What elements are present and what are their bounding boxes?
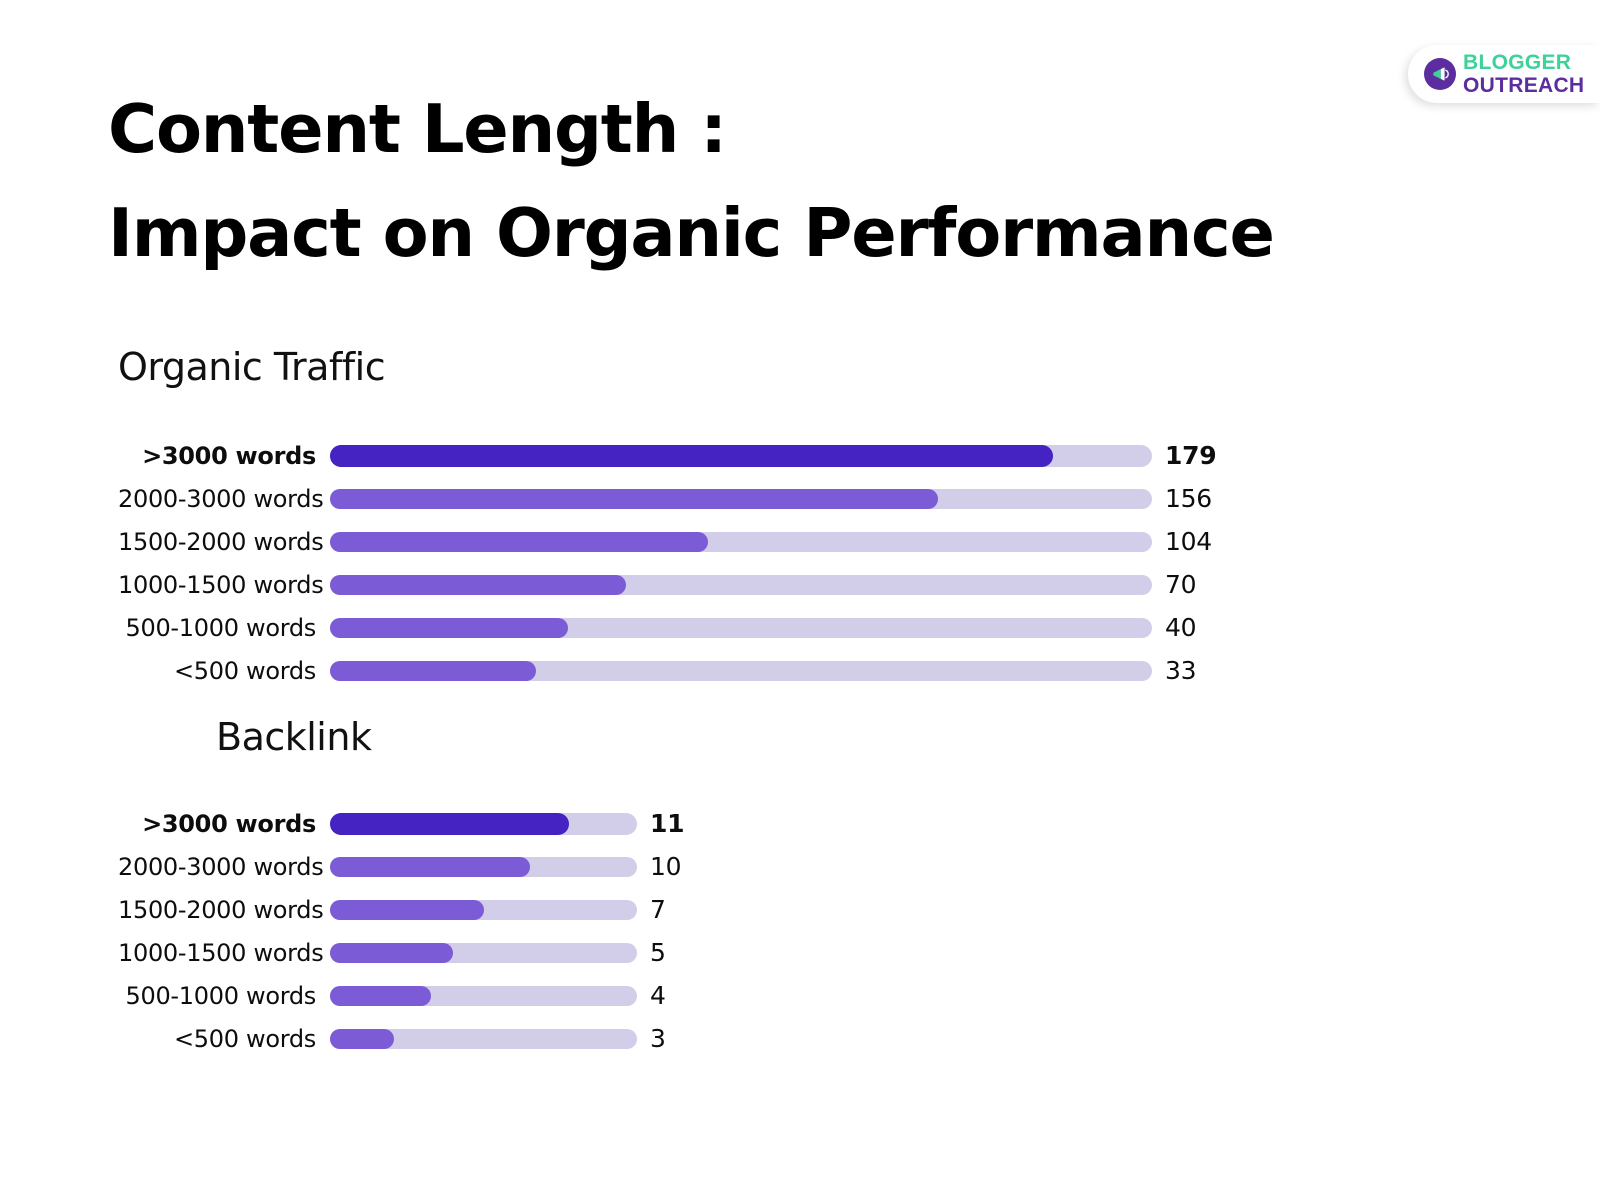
chart-organic-traffic: Organic Traffic >3000 words 179 2000-300…	[118, 345, 1216, 692]
bar-value: 40	[1152, 613, 1196, 642]
bar-label: >3000 words	[118, 442, 330, 470]
bar-track	[330, 618, 1152, 638]
bar-value: 70	[1152, 570, 1196, 599]
bar-label: 500-1000 words	[118, 982, 330, 1010]
bar-track	[330, 857, 637, 877]
bar-track	[330, 445, 1152, 467]
bar-value: 179	[1152, 441, 1216, 470]
bar-row[interactable]: >3000 words 179	[118, 434, 1216, 477]
bar-fill	[330, 661, 536, 681]
chart-backlink: Backlink >3000 words 11 2000-3000 words …	[216, 715, 684, 1060]
bar-fill	[330, 532, 708, 552]
bar-track	[330, 661, 1152, 681]
brand-logo-wordmark: BLOGGER OUTREACH	[1463, 52, 1584, 96]
bar-track	[330, 986, 637, 1006]
bar-track	[330, 943, 637, 963]
page-title: Content Length : Impact on Organic Perfo…	[108, 78, 1358, 286]
bar-track	[330, 575, 1152, 595]
bar-label: 1000-1500 words	[118, 571, 330, 599]
bar-row[interactable]: <500 words 3	[118, 1017, 684, 1060]
brand-logo[interactable]: BLOGGER OUTREACH	[1408, 45, 1600, 103]
bar-value: 5	[637, 938, 666, 967]
bar-list-backlink: >3000 words 11 2000-3000 words 10 1500-2…	[118, 802, 684, 1060]
bar-label: 1500-2000 words	[118, 896, 330, 924]
bar-fill	[330, 575, 626, 595]
bar-fill	[330, 1029, 394, 1049]
bar-row[interactable]: 1500-2000 words 7	[118, 888, 684, 931]
bar-label: 2000-3000 words	[118, 485, 330, 513]
brand-logo-line-2: OUTREACH	[1463, 75, 1584, 96]
bar-row[interactable]: 2000-3000 words 156	[118, 477, 1216, 520]
chart-title-backlink: Backlink	[216, 715, 684, 759]
bar-track	[330, 900, 637, 920]
bar-value: 7	[637, 895, 666, 924]
bar-row[interactable]: 2000-3000 words 10	[118, 845, 684, 888]
bar-label: 1000-1500 words	[118, 939, 330, 967]
bar-track	[330, 1029, 637, 1049]
bar-fill	[330, 900, 484, 920]
page-title-line-2: Impact on Organic Performance	[108, 182, 1358, 286]
bar-row[interactable]: 1500-2000 words 104	[118, 520, 1216, 563]
megaphone-icon	[1424, 58, 1456, 90]
bar-value: 4	[637, 981, 666, 1010]
bar-row[interactable]: 500-1000 words 4	[118, 974, 684, 1017]
bar-row[interactable]: 1000-1500 words 70	[118, 563, 1216, 606]
page-title-line-1: Content Length :	[108, 78, 1358, 182]
bar-label: >3000 words	[118, 810, 330, 838]
bar-track	[330, 489, 1152, 509]
bar-row[interactable]: 500-1000 words 40	[118, 606, 1216, 649]
brand-logo-line-1: BLOGGER	[1463, 52, 1584, 73]
bar-fill	[330, 813, 569, 835]
bar-label: <500 words	[118, 657, 330, 685]
bar-value: 104	[1152, 527, 1212, 556]
bar-track	[330, 532, 1152, 552]
bar-fill	[330, 943, 453, 963]
bar-value: 11	[637, 809, 684, 838]
bar-row[interactable]: <500 words 33	[118, 649, 1216, 692]
bar-list-organic-traffic: >3000 words 179 2000-3000 words 156 1500…	[118, 434, 1216, 692]
bar-label: 1500-2000 words	[118, 528, 330, 556]
bar-fill	[330, 857, 530, 877]
bar-value: 33	[1152, 656, 1196, 685]
infographic-canvas: BLOGGER OUTREACH Content Length : Impact…	[0, 0, 1600, 1188]
bar-value: 3	[637, 1024, 666, 1053]
bar-fill	[330, 445, 1053, 467]
chart-title-organic-traffic: Organic Traffic	[118, 345, 1216, 389]
bar-track	[330, 813, 637, 835]
bar-label: <500 words	[118, 1025, 330, 1053]
bar-value: 156	[1152, 484, 1212, 513]
bar-row[interactable]: 1000-1500 words 5	[118, 931, 684, 974]
bar-label: 500-1000 words	[118, 614, 330, 642]
bar-row[interactable]: >3000 words 11	[118, 802, 684, 845]
bar-value: 10	[637, 852, 681, 881]
bar-fill	[330, 986, 431, 1006]
bar-label: 2000-3000 words	[118, 853, 330, 881]
bar-fill	[330, 489, 938, 509]
bar-fill	[330, 618, 568, 638]
